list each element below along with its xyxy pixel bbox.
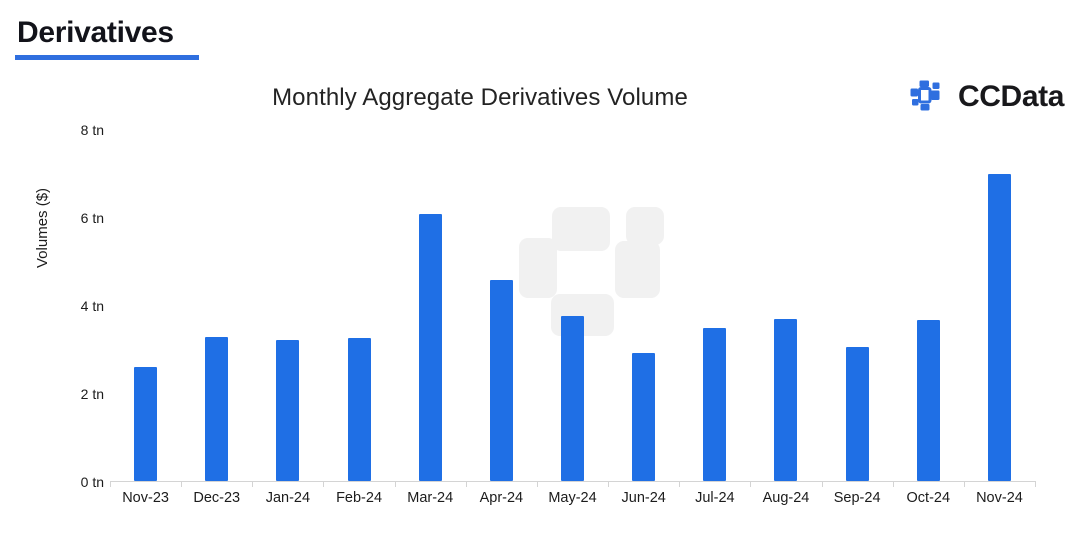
bar-slot	[181, 130, 252, 481]
x-tick-label: May-24	[537, 490, 608, 506]
x-axis-line	[110, 481, 1035, 482]
x-tick-mark	[252, 481, 253, 487]
section-header: Derivatives	[15, 14, 199, 60]
bar-jul-24[interactable]	[703, 328, 726, 481]
bar-nov-24[interactable]	[988, 174, 1011, 481]
chart-page: Derivatives Monthly Aggregate Derivative…	[0, 0, 1080, 543]
ccdata-logo-icon	[907, 80, 947, 114]
bar-jun-24[interactable]	[632, 353, 655, 481]
x-tick-mark	[395, 481, 396, 487]
x-axis-labels: Nov-23Dec-23Jan-24Feb-24Mar-24Apr-24May-…	[110, 490, 1035, 506]
x-tick-mark	[608, 481, 609, 487]
x-tick-label: Apr-24	[466, 490, 537, 506]
bar-slot	[893, 130, 964, 481]
bar-slot	[395, 130, 466, 481]
brand-logo: CCData	[907, 80, 1064, 114]
x-tick-mark	[466, 481, 467, 487]
bar-slot	[537, 130, 608, 481]
y-tick-label: 8 tn	[48, 122, 104, 138]
bar-may-24[interactable]	[561, 316, 584, 481]
x-tick-label: Aug-24	[750, 490, 821, 506]
x-tick-mark	[323, 481, 324, 487]
x-tick-label: Sep-24	[822, 490, 893, 506]
bar-slot	[964, 130, 1035, 481]
brand-name: CCData	[958, 81, 1064, 113]
bar-aug-24[interactable]	[774, 319, 797, 481]
title-underline-rule	[15, 55, 199, 60]
x-tick-label: Oct-24	[893, 490, 964, 506]
bar-apr-24[interactable]	[490, 280, 513, 481]
bar-slot	[822, 130, 893, 481]
x-tick-mark	[822, 481, 823, 487]
bar-slot	[110, 130, 181, 481]
bar-oct-24[interactable]	[917, 320, 940, 481]
x-tick-mark	[181, 481, 182, 487]
bar-nov-23[interactable]	[134, 367, 157, 481]
bar-slot	[323, 130, 394, 481]
x-tick-label: Nov-23	[110, 490, 181, 506]
bar-feb-24[interactable]	[348, 338, 371, 481]
bar-slot	[252, 130, 323, 481]
x-tick-label: Mar-24	[395, 490, 466, 506]
x-tick-label: Jun-24	[608, 490, 679, 506]
x-tick-mark	[679, 481, 680, 487]
x-tick-mark	[964, 481, 965, 487]
y-tick-label: 2 tn	[48, 386, 104, 402]
x-tick-mark	[893, 481, 894, 487]
x-tick-mark	[1035, 481, 1036, 487]
x-tick-mark	[750, 481, 751, 487]
x-tick-mark	[110, 481, 111, 487]
bar-jan-24[interactable]	[276, 340, 299, 481]
y-tick-label: 4 tn	[48, 298, 104, 314]
y-axis-ticks: 8 tn 6 tn 4 tn 2 tn 0 tn	[40, 130, 104, 482]
bar-series	[110, 130, 1035, 481]
x-tick-label: Jan-24	[252, 490, 323, 506]
bar-slot	[750, 130, 821, 481]
x-tick-label: Dec-23	[181, 490, 252, 506]
x-tick-label: Feb-24	[323, 490, 394, 506]
bar-dec-23[interactable]	[205, 337, 228, 481]
y-tick-label: 6 tn	[48, 210, 104, 226]
x-tick-mark	[537, 481, 538, 487]
page-title: Derivatives	[15, 14, 199, 52]
bar-sep-24[interactable]	[846, 347, 869, 481]
bar-mar-24[interactable]	[419, 214, 442, 481]
y-tick-label: 0 tn	[48, 474, 104, 490]
bar-slot	[679, 130, 750, 481]
x-tick-label: Jul-24	[679, 490, 750, 506]
bar-slot	[608, 130, 679, 481]
bar-slot	[466, 130, 537, 481]
x-tick-label: Nov-24	[964, 490, 1035, 506]
